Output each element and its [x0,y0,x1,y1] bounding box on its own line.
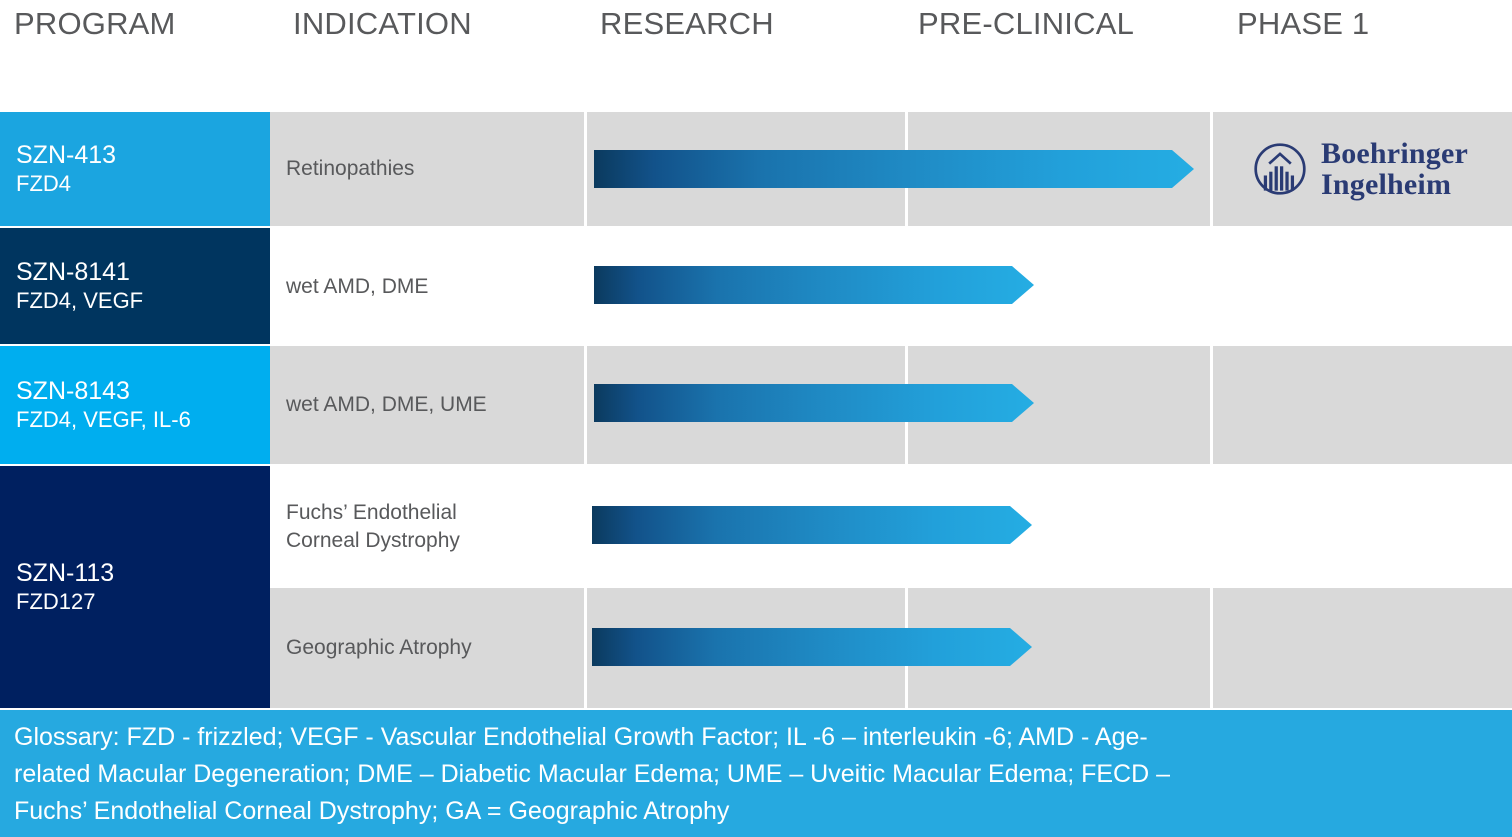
table-row: wet AMD, DME, UME [270,346,1512,464]
program-cell-szn-8141[interactable]: SZN-8141 FZD4, VEGF [0,228,270,346]
table-row: Geographic Atrophy [270,588,1512,708]
indication-label: wet AMD, DME, UME [286,391,487,419]
glossary-line-3: Fuchs’ Endothelial Corneal Dystrophy; GA… [14,793,1498,830]
pipeline-chart: PROGRAM INDICATION RESEARCH PRE-CLINICAL… [0,0,1512,837]
indication-label: Geographic Atrophy [286,634,472,662]
table-row: Retinopathies Boehringer In [270,112,1512,226]
program-name: SZN-413 [16,140,254,170]
progress-arrow [594,266,1034,304]
phase1-cell: Boehringer Ingelheim [1213,112,1512,226]
indication-cell: Fuchs’ Endothelial Corneal Dystrophy [270,466,584,588]
program-cell-szn-413[interactable]: SZN-413 FZD4 [0,112,270,228]
phase1-cell [1213,588,1512,708]
program-cell-szn-8143[interactable]: SZN-8143 FZD4, VEGF, IL-6 [0,346,270,466]
phase1-cell [1213,228,1512,346]
pipeline-grid: SZN-413 FZD4 SZN-8141 FZD4, VEGF SZN-814… [0,112,1512,708]
column-header-indication: INDICATION [293,4,472,44]
program-target: FZD4, VEGF [16,287,254,315]
program-target: FZD4, VEGF, IL-6 [16,406,254,434]
program-name: SZN-8143 [16,376,254,406]
indication-label: Fuchs’ Endothelial Corneal Dystrophy [286,499,460,555]
indication-label: wet AMD, DME [286,273,428,301]
progress-arrow [592,628,1032,666]
column-header-program: PROGRAM [14,4,176,44]
program-target: FZD127 [16,588,254,616]
glossary-line-2: related Macular Degeneration; DME – Diab… [14,756,1498,793]
progress-arrow [592,506,1032,544]
glossary-line-1: Glossary: FZD - frizzled; VEGF - Vascula… [14,719,1498,756]
phase1-cell [1213,346,1512,464]
program-name: SZN-113 [16,558,254,588]
program-name: SZN-8141 [16,257,254,287]
progress-arrow [594,384,1034,422]
table-row: wet AMD, DME [270,228,1512,346]
indication-label: Retinopathies [286,155,414,183]
program-target: FZD4 [16,170,254,198]
column-header-phase1: PHASE 1 [1237,4,1369,44]
program-cell-szn-113[interactable]: SZN-113 FZD127 [0,466,270,708]
partner-name: Boehringer Ingelheim [1321,138,1468,200]
indication-cell: wet AMD, DME, UME [270,346,584,464]
table-row: Fuchs’ Endothelial Corneal Dystrophy [270,466,1512,588]
boehringer-circle-mark [1253,142,1307,196]
phase1-cell [1213,466,1512,588]
indication-cell: Retinopathies [270,112,584,226]
column-header-research: RESEARCH [600,4,774,44]
indication-cell: Geographic Atrophy [270,588,584,708]
glossary-banner: Glossary: FZD - frizzled; VEGF - Vascula… [0,710,1512,837]
partner-logo-boehringer-ingelheim: Boehringer Ingelheim [1253,138,1468,200]
progress-arrow [594,150,1194,188]
column-header-row: PROGRAM INDICATION RESEARCH PRE-CLINICAL… [0,0,1512,112]
column-header-preclinical: PRE-CLINICAL [918,4,1134,44]
indication-cell: wet AMD, DME [270,228,584,346]
